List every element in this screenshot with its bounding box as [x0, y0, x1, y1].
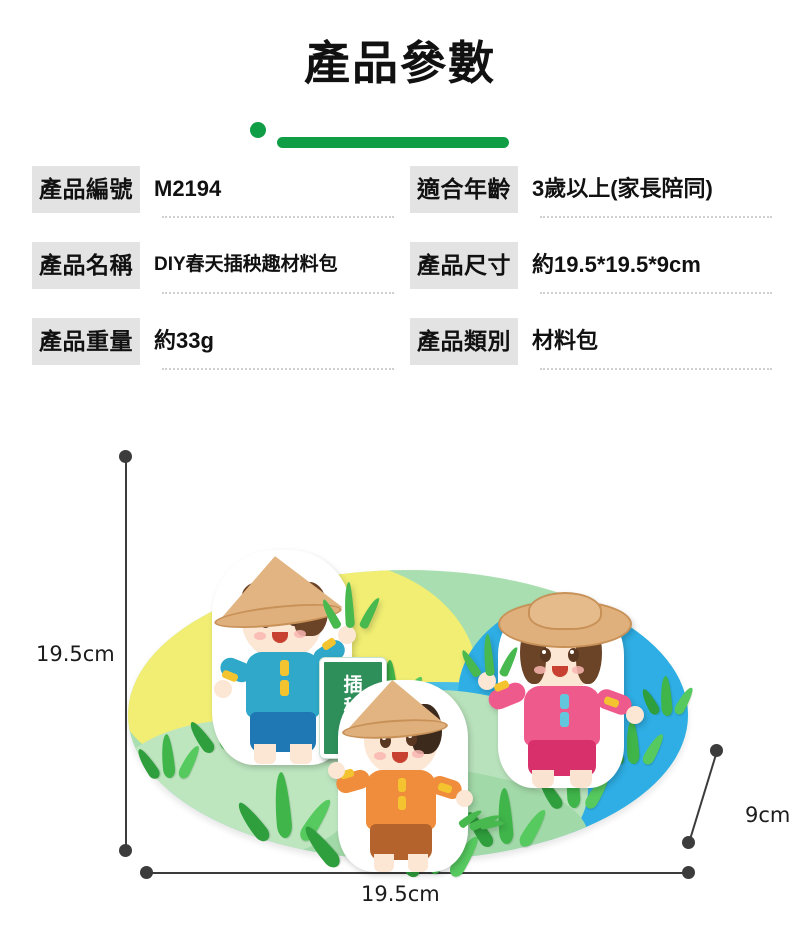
spec-value: 約33g: [140, 318, 214, 358]
dimension-label-height: 19.5cm: [36, 642, 115, 666]
toy-scene: 插 秧 季: [128, 540, 688, 860]
rice-seedling: [334, 580, 374, 630]
spec-label: 產品重量: [32, 318, 140, 365]
spec-value: 約19.5*19.5*9cm: [518, 242, 701, 282]
dimension-label-width: 19.5cm: [361, 882, 440, 906]
dimension-line-depth: [680, 742, 740, 852]
page-title: 產品參數: [0, 34, 800, 92]
spec-dotted-rule: [162, 292, 394, 294]
figure-girl-pink: [464, 578, 664, 788]
spec-value: 3歲以上(家長陪同): [518, 166, 713, 206]
dimension-endpoint-dot: [682, 866, 695, 879]
spec-dotted-rule: [540, 368, 772, 370]
spec-cell-product-name: 產品名稱 DIY春天插秧趣材料包: [32, 242, 394, 318]
spec-value: DIY春天插秧趣材料包: [140, 242, 338, 282]
table-row: 產品名稱 DIY春天插秧趣材料包 產品尺寸 約19.5*19.5*9cm: [32, 242, 772, 318]
spec-cell-product-code: 產品編號 M2194: [32, 166, 394, 242]
spec-dotted-rule: [540, 216, 772, 218]
page-header: 產品參數: [0, 34, 800, 134]
table-row: 產品編號 M2194 適合年齡 3歲以上(家長陪同): [32, 166, 772, 242]
spec-cell-product-category: 產品類別 材料包: [410, 318, 772, 394]
dimension-rule: [688, 752, 717, 842]
spec-cell-product-size: 產品尺寸 約19.5*19.5*9cm: [410, 242, 772, 318]
spec-dotted-rule: [540, 292, 772, 294]
spec-label: 適合年齡: [410, 166, 518, 213]
title-accent-dot: [250, 122, 266, 138]
spec-value: M2194: [140, 166, 221, 206]
dimension-line-height: [125, 456, 127, 856]
spec-cell-suitable-age: 適合年齡 3歲以上(家長陪同): [410, 166, 772, 242]
product-spec-table: 產品編號 M2194 適合年齡 3歲以上(家長陪同) 產品名稱 DIY春天插秧趣…: [32, 166, 772, 394]
dimension-label-depth: 9cm: [745, 803, 790, 827]
spec-cell-product-weight: 產品重量 約33g: [32, 318, 394, 394]
spec-label: 產品類別: [410, 318, 518, 365]
spec-label: 產品尺寸: [410, 242, 518, 289]
product-photo-with-dimensions: 19.5cm 19.5cm 9cm: [0, 420, 800, 949]
title-accent-bar: [277, 137, 509, 148]
rice-seedling: [474, 630, 518, 678]
rice-seedling: [456, 790, 496, 830]
spec-label: 產品名稱: [32, 242, 140, 289]
spec-value: 材料包: [518, 318, 598, 358]
spec-dotted-rule: [162, 216, 394, 218]
table-row: 產品重量 約33g 產品類別 材料包: [32, 318, 772, 394]
spec-dotted-rule: [162, 368, 394, 370]
spec-label: 產品編號: [32, 166, 140, 213]
